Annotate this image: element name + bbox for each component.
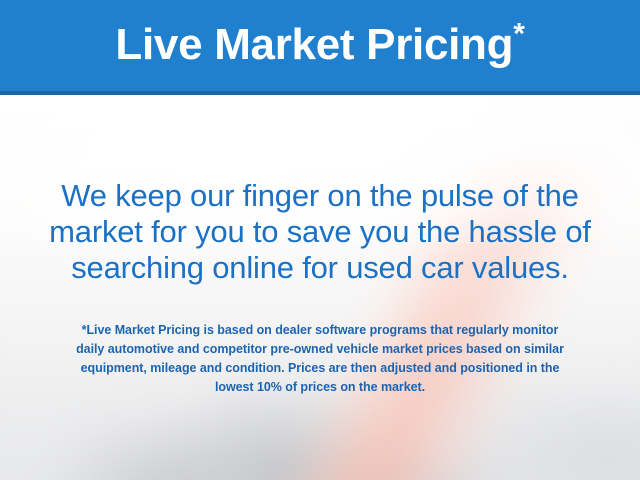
live-market-pricing-slide: Live Market Pricing* We keep our finger … (0, 0, 640, 480)
disclaimer-line: daily automotive and competitor pre-owne… (0, 340, 640, 359)
headline-block: We keep our finger on the pulse of the m… (0, 178, 640, 286)
disclaimer-block: *Live Market Pricing is based on dealer … (0, 321, 640, 397)
header-banner-underline (0, 91, 640, 95)
disclaimer-line: lowest 10% of prices on the market. (0, 378, 640, 397)
header-banner: Live Market Pricing* (0, 0, 640, 91)
page-title-text: Live Market Pricing (115, 20, 513, 69)
page-title: Live Market Pricing* (115, 23, 524, 69)
headline-line: market for you to save you the hassle of (0, 214, 640, 250)
page-title-asterisk: * (513, 17, 524, 50)
headline-line: We keep our finger on the pulse of the (0, 178, 640, 214)
headline-line: searching online for used car values. (0, 250, 640, 286)
disclaimer-line: equipment, mileage and condition. Prices… (0, 359, 640, 378)
disclaimer-line: *Live Market Pricing is based on dealer … (0, 321, 640, 340)
